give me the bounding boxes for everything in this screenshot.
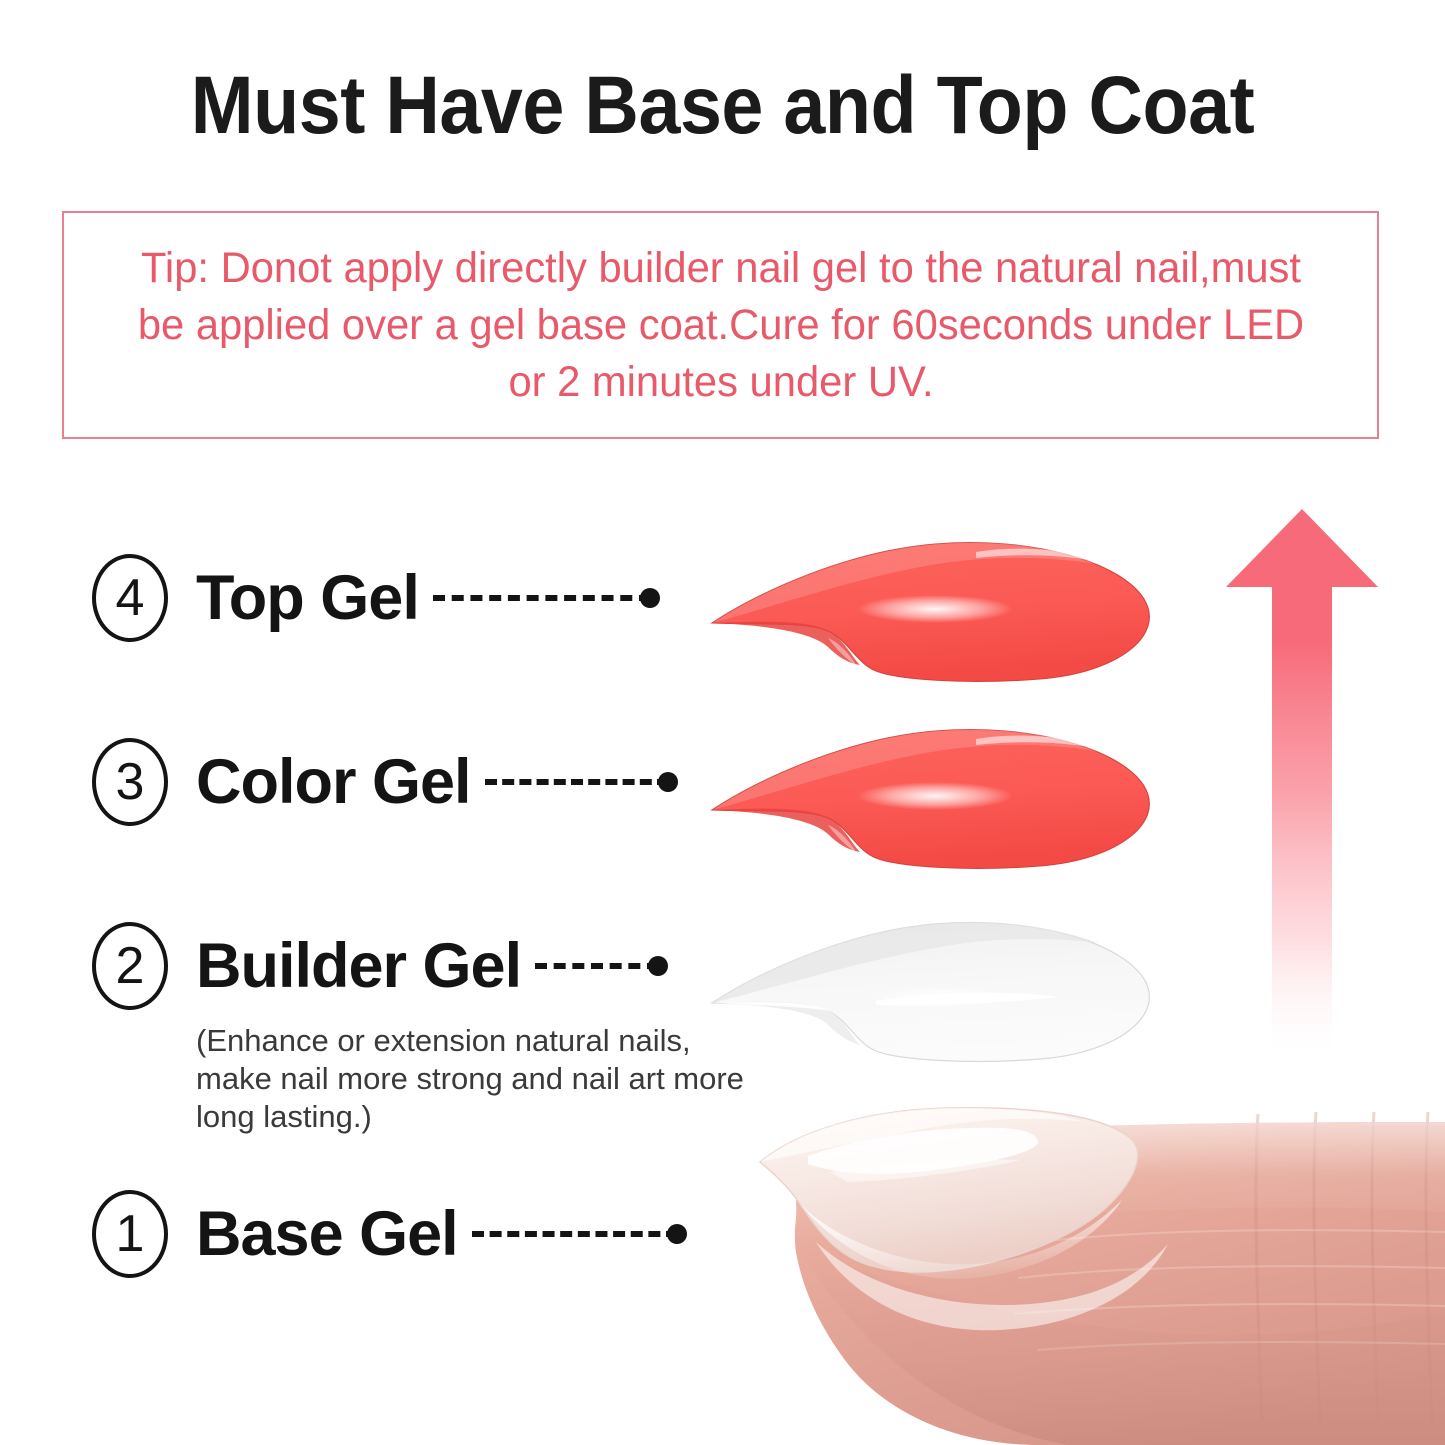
nail-swatch-color-gel-icon [700, 700, 1170, 900]
leader-dashes [433, 595, 651, 601]
leader-line-builder-gel [535, 963, 659, 969]
nail-swatch-builder-gel-icon [700, 893, 1170, 1093]
tip-text: Tip: Donot apply directly builder nail g… [124, 240, 1317, 411]
leader-line-color-gel [485, 779, 669, 785]
step-number-badge: 3 [92, 738, 168, 826]
arrow-up-icon [1222, 503, 1382, 1103]
step-row-top-gel: 4 Top Gel [92, 554, 651, 642]
step-label-builder-gel: Builder Gel [196, 931, 521, 1001]
leader-end-dot [658, 772, 678, 792]
step-row-base-gel: 1 Base Gel [92, 1190, 678, 1278]
step-label-color-gel: Color Gel [196, 747, 471, 817]
step-row-builder-gel: 2 Builder Gel [92, 922, 659, 1010]
step-number-badge: 2 [92, 922, 168, 1010]
leader-line-base-gel [472, 1231, 678, 1237]
leader-dashes [535, 963, 659, 969]
leader-end-dot [667, 1224, 687, 1244]
tip-callout-box: Tip: Donot apply directly builder nail g… [62, 211, 1379, 439]
leader-end-dot [648, 956, 668, 976]
leader-dashes [485, 779, 669, 785]
step-label-top-gel: Top Gel [196, 563, 419, 633]
leader-dashes [472, 1231, 678, 1237]
step-number-badge: 1 [92, 1190, 168, 1278]
leader-end-dot [640, 588, 660, 608]
leader-line-top-gel [433, 595, 651, 601]
finger-with-natural-nail-icon [738, 1092, 1445, 1445]
page-title: Must Have Base and Top Coat [58, 58, 1387, 154]
step-row-color-gel: 3 Color Gel [92, 738, 669, 826]
step-number-badge: 4 [92, 554, 168, 642]
infographic-root: Must Have Base and Top Coat Tip: Donot a… [0, 0, 1445, 1445]
step-label-base-gel: Base Gel [196, 1199, 458, 1269]
builder-gel-note: (Enhance or extension natural nails, mak… [196, 1022, 756, 1136]
nail-swatch-top-gel-icon [700, 513, 1170, 713]
